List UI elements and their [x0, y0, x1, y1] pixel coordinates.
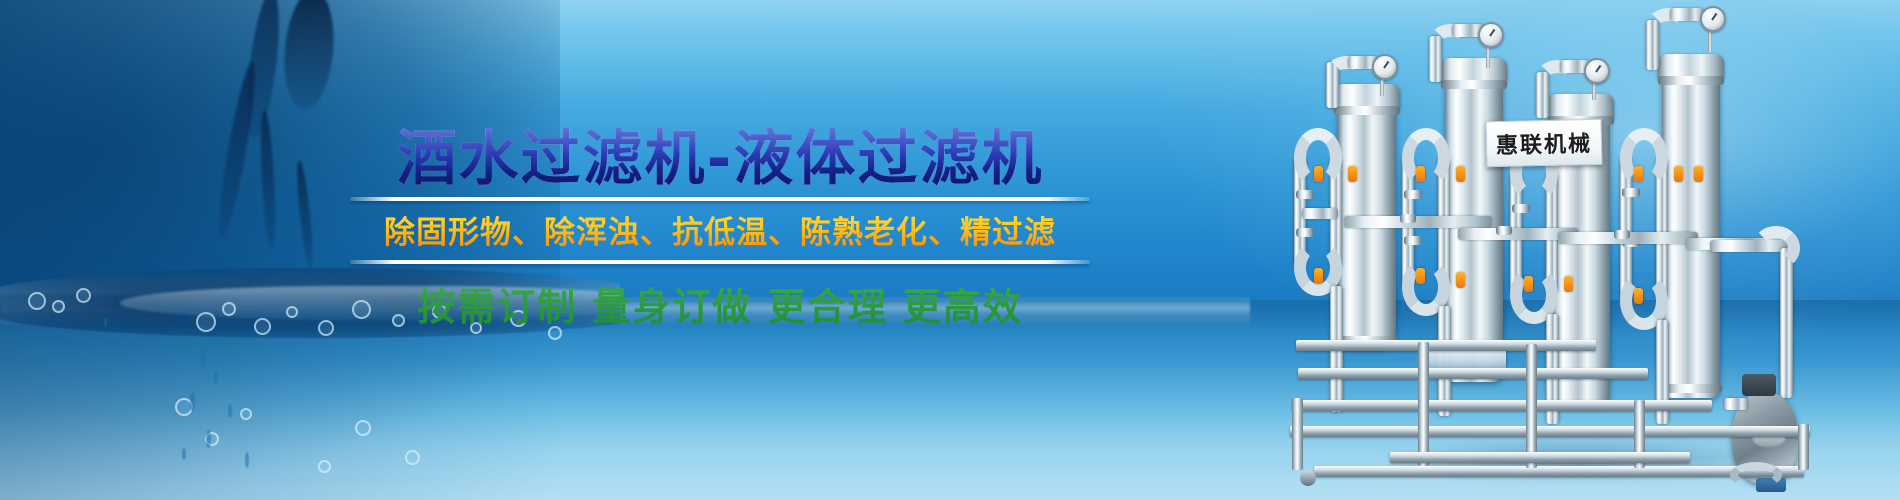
headline-text: 酒水过滤机-液体过滤机 — [397, 128, 1044, 191]
pressure-gauge-4 — [1700, 6, 1726, 32]
features-line-text: 除固形物、除浑浊、抗低温、陈熟老化、精过滤 — [384, 207, 1056, 252]
divider-bottom — [350, 260, 1090, 264]
tagline: 按需订制 量身订做 更合理 更高效 按需订制 量身订做 更合理 更高效 — [417, 276, 1023, 331]
pressure-gauge-1 — [1372, 54, 1398, 80]
pressure-gauge-2 — [1478, 22, 1504, 48]
banner-text-block: 酒水过滤机-液体过滤机 酒水过滤机-液体过滤机 除固形物、除浑浊、抗低温、陈熟老… — [340, 128, 1100, 331]
liquid-filter-machine-image: 惠联机械 — [1290, 0, 1900, 500]
machine-brand-sign: 惠联机械 — [1486, 119, 1603, 167]
machine-brand-sign-text: 惠联机械 — [1496, 126, 1593, 160]
divider-top — [350, 197, 1090, 201]
features-line: 除固形物、除浑浊、抗低温、陈熟老化、精过滤 除固形物、除浑浊、抗低温、陈熟老化、… — [384, 207, 1056, 252]
tagline-text: 按需订制 量身订做 更合理 更高效 — [417, 276, 1023, 331]
pressure-gauge-3 — [1584, 58, 1610, 84]
promotional-banner: 惠联机械 酒水过滤机-液体过滤机 酒水过滤机-液体过滤机 除固形物、除浑浊、抗低… — [0, 0, 1900, 500]
headline: 酒水过滤机-液体过滤机 酒水过滤机-液体过滤机 — [397, 128, 1044, 191]
